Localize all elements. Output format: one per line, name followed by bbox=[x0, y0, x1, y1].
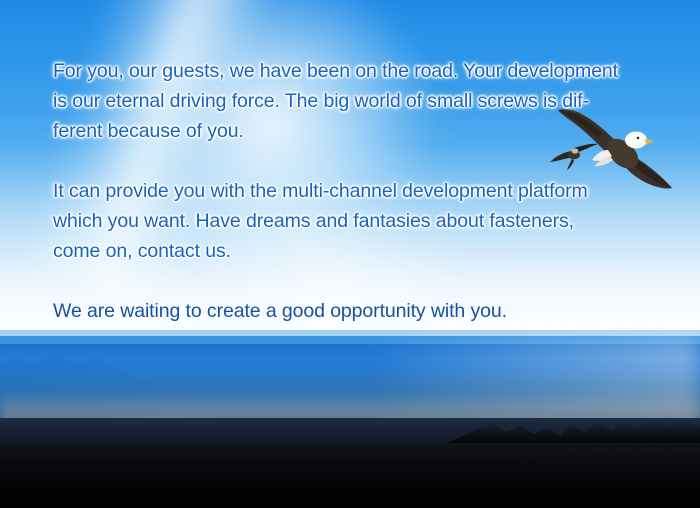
banner-copy: For you, our guests, we have been on the… bbox=[53, 56, 657, 326]
paragraph-3: We are waiting to create a good opportun… bbox=[53, 296, 657, 326]
paragraph-1-line-2: is our eternal driving force. The big wo… bbox=[53, 86, 657, 116]
paragraph-2-line-3: come on, contact us. bbox=[53, 236, 657, 266]
paragraph-2-line-1: It can provide you with the multi-channe… bbox=[53, 176, 657, 206]
paragraph-1-line-1: For you, our guests, we have been on the… bbox=[53, 56, 657, 86]
bottom-vignette bbox=[0, 358, 700, 508]
paragraph-2: It can provide you with the multi-channe… bbox=[53, 176, 657, 266]
paragraph-1-line-3: ferent because of you. bbox=[53, 116, 657, 146]
paragraph-3-line-1: We are waiting to create a good opportun… bbox=[53, 296, 657, 326]
hero-banner: For you, our guests, we have been on the… bbox=[0, 0, 700, 508]
paragraph-1: For you, our guests, we have been on the… bbox=[53, 56, 657, 146]
paragraph-2-line-2: which you want. Have dreams and fantasie… bbox=[53, 206, 657, 236]
